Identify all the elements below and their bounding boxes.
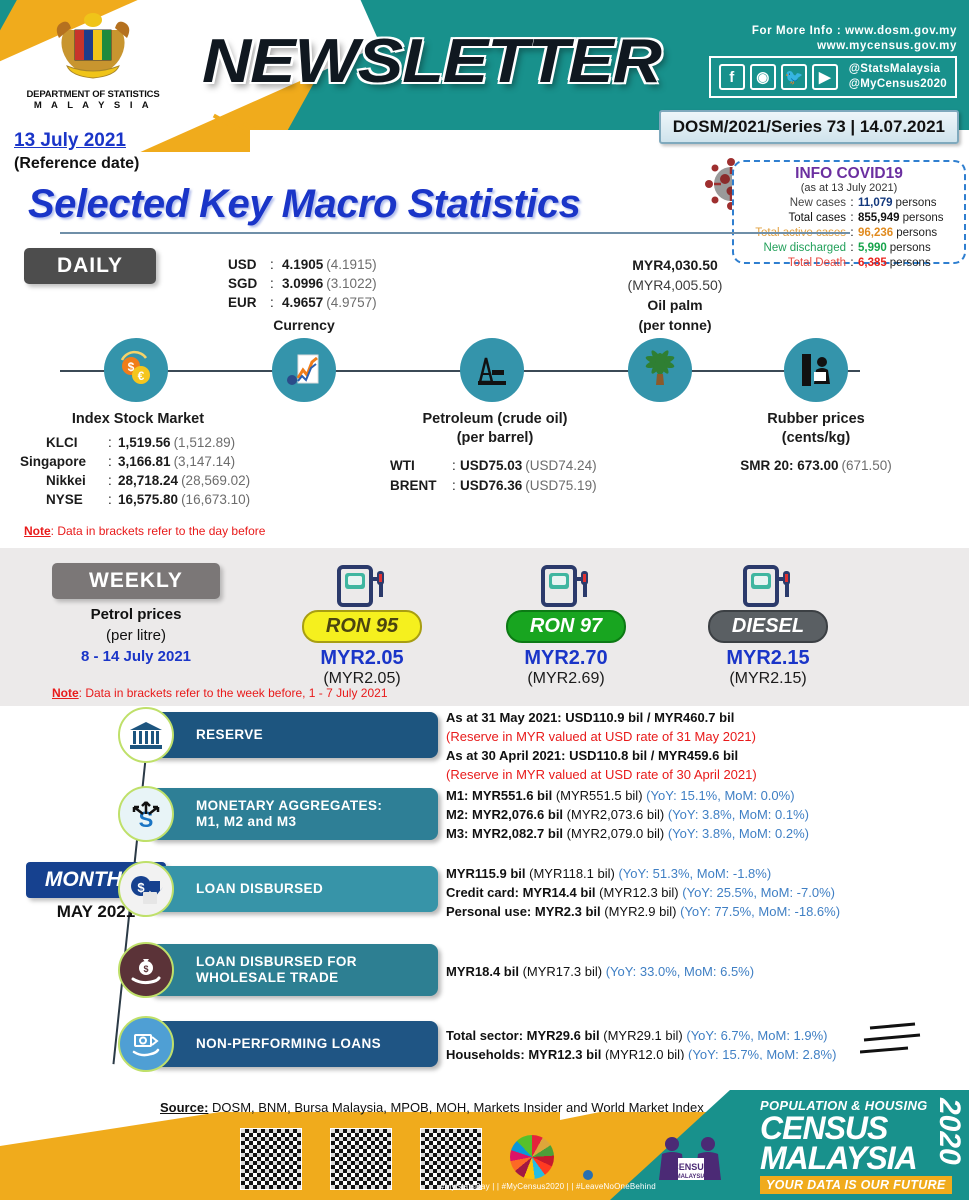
- monetary-prev: (MYR551.5 bil): [556, 788, 643, 803]
- index-prev: (1,512.89): [174, 433, 236, 452]
- currency-code: EUR: [228, 293, 270, 312]
- emblem-line-1: DEPARTMENT OF STATISTICS: [18, 89, 168, 100]
- monthly-caption-monetary: MONETARY AGGREGATES: M1, M2 and M3: [148, 788, 438, 840]
- petroleum-row: BRENT : USD76.36 (USD75.19): [390, 476, 600, 495]
- covid-value: 6,385: [858, 256, 887, 271]
- index-prev: (3,147.14): [174, 452, 236, 471]
- monetary-row: M2: MYR2,076.6 bil (MYR2,073.6 bil) (YoY…: [446, 805, 809, 824]
- fuel-pill-label: DIESEL: [708, 610, 828, 643]
- more-info-block: For More Info : www.dosm.gov.my www.myce…: [752, 24, 957, 54]
- daily-note-prefix: Note: [24, 524, 51, 538]
- monthly-caption-line-2: WHOLESALE TRADE: [196, 970, 339, 986]
- petroleum-rows: WTI : USD75.03 (USD74.24) BRENT : USD76.…: [390, 456, 600, 495]
- more-info-line-1: For More Info : www.dosm.gov.my: [752, 24, 957, 39]
- fuel-price: MYR2.70: [476, 647, 656, 670]
- reference-date: 13 July 2021: [14, 130, 126, 152]
- footer-hashtags: #MyStatsDay | | #MyCensus2020 | | #Leave…: [440, 1182, 656, 1191]
- monthly-caption-line-1: RESERVE: [196, 727, 263, 743]
- npl-change: (YoY: 15.7%, MoM: 2.8%): [688, 1047, 836, 1062]
- malaysia-coat-of-arms-icon: [45, 8, 141, 82]
- covid-unit: persons: [896, 226, 937, 241]
- handle-statsmalaysia: @StatsMalaysia: [849, 62, 947, 77]
- youtube-icon[interactable]: ▶: [812, 64, 838, 90]
- census-year: 2020: [935, 1098, 963, 1165]
- monetary-prev: (MYR2,079.0 bil): [567, 826, 665, 841]
- loan-row: Personal use: MYR2.3 bil (MYR2.9 bil) (Y…: [446, 902, 840, 921]
- currency-colon: :: [270, 274, 282, 293]
- currency-value: 3.0996: [282, 274, 323, 293]
- npl-prev: (MYR29.1 bil): [603, 1028, 682, 1043]
- svg-text:MALAYSIA: MALAYSIA: [676, 1174, 707, 1180]
- covid-value: 96,236: [858, 226, 893, 241]
- stock-chart-icon: [272, 338, 336, 402]
- index-prev: (28,569.02): [181, 471, 250, 490]
- covid-colon: :: [846, 256, 858, 271]
- wholesale-change: (YoY: 33.0%, MoM: 6.5%): [606, 964, 754, 979]
- petroleum-block: Petroleum (crude oil) (per barrel) WTI :…: [390, 410, 600, 495]
- monthly-text-monetary: M1: MYR551.6 bil (MYR551.5 bil) (YoY: 15…: [446, 786, 809, 843]
- oil-palm-label-2: (per tonne): [590, 315, 760, 335]
- currency-exchange-icon: $ €: [104, 338, 168, 402]
- rubber-tapping-icon: [784, 338, 848, 402]
- monthly-caption-line-1: LOAN DISBURSED FOR: [196, 954, 357, 970]
- npl-row: Total sector: MYR29.6 bil (MYR29.1 bil) …: [446, 1026, 836, 1045]
- index-value: 28,718.24: [118, 471, 178, 490]
- currency-colon: :: [270, 293, 282, 312]
- loan-prev: (MYR12.3 bil): [599, 885, 678, 900]
- currency-block: USD : 4.1905 (4.1915) SGD : 3.0996 (3.10…: [228, 255, 380, 335]
- social-media-box: f ◉ 🐦 ▶ @StatsMalaysia @MyCensus2020: [709, 56, 957, 98]
- index-row: KLCI : 1,519.56 (1,512.89): [20, 433, 256, 452]
- loan-change: (YoY: 77.5%, MoM: -18.6%): [680, 904, 840, 919]
- rubber-title-2: (cents/kg): [716, 429, 916, 448]
- monthly-text-wholesale: MYR18.4 bil (MYR17.3 bil) (YoY: 33.0%, M…: [446, 962, 754, 981]
- index-colon: :: [108, 490, 118, 509]
- wholesale-row: MYR18.4 bil (MYR17.3 bil) (YoY: 33.0%, M…: [446, 962, 754, 981]
- rubber-value: SMR 20: 673.00: [740, 458, 838, 473]
- covid-unit: persons: [903, 211, 944, 226]
- weekly-note: Note: Data in brackets refer to the week…: [52, 686, 388, 700]
- oil-palm-prev: (MYR4,005.50): [590, 275, 760, 295]
- fuel-price: MYR2.15: [678, 647, 858, 670]
- petroleum-title-2: (per barrel): [390, 429, 600, 448]
- monthly-caption-npl: NON-PERFORMING LOANS: [148, 1021, 438, 1067]
- weekly-note-prefix: Note: [52, 686, 79, 700]
- monthly-caption-loan: LOAN DISBURSED: [148, 866, 438, 912]
- fuel-card-ron95: RON 95 MYR2.05 (MYR2.05): [272, 563, 452, 688]
- index-name: KLCI: [20, 433, 108, 452]
- index-colon: :: [108, 433, 118, 452]
- twitter-icon[interactable]: 🐦: [781, 64, 807, 90]
- npl-value: Households: MYR12.3 bil: [446, 1047, 601, 1062]
- loan-prev: (MYR2.9 bil): [604, 904, 676, 919]
- oil-palm-label-1: Oil palm: [590, 295, 760, 315]
- monthly-text-loan: MYR115.9 bil (MYR118.1 bil) (YoY: 51.3%,…: [446, 864, 840, 921]
- covid-value: 5,990: [858, 241, 887, 256]
- currency-prev: (4.9757): [326, 293, 376, 312]
- daily-note: Note: Data in brackets refer to the day …: [24, 524, 265, 538]
- loan-money-icon: $: [118, 861, 174, 917]
- reserve-note-2: (Reserve in MYR valued at USD rate of 30…: [446, 765, 757, 784]
- index-prev: (16,673.10): [181, 490, 250, 509]
- fuel-pill-label: RON 95: [302, 610, 422, 643]
- currency-prev: (4.1915): [326, 255, 376, 274]
- monetary-row: M3: MYR2,082.7 bil (MYR2,079.0 bil) (YoY…: [446, 824, 809, 843]
- covid-unit: persons: [890, 256, 931, 271]
- petroleum-row: WTI : USD75.03 (USD74.24): [390, 456, 600, 475]
- broken-money-icon: [118, 1016, 174, 1072]
- svg-text:€: €: [138, 369, 145, 383]
- weekly-caption-date: 8 - 14 July 2021: [52, 646, 220, 667]
- petroleum-prev: (USD75.19): [525, 476, 596, 495]
- emblem-line-2: M A L A Y S I A: [18, 100, 168, 111]
- index-name: NYSE: [20, 490, 108, 509]
- series-badge: DOSM/2021/Series 73 | 14.07.2021: [659, 110, 959, 144]
- covid-colon: :: [846, 196, 858, 211]
- petroleum-colon: :: [452, 476, 460, 495]
- monetary-value: M1: MYR551.6 bil: [446, 788, 552, 803]
- social-handles: @StatsMalaysia @MyCensus2020: [849, 62, 947, 92]
- monthly-caption-line-1: LOAN DISBURSED: [196, 881, 323, 897]
- monetary-change: (YoY: 15.1%, MoM: 0.0%): [646, 788, 794, 803]
- weekly-badge: WEEKLY: [52, 563, 220, 599]
- currency-code: USD: [228, 255, 270, 274]
- loan-change: (YoY: 51.3%, MoM: -1.8%): [618, 866, 771, 881]
- palm-tree-icon: [628, 338, 692, 402]
- fuel-prev-price: (MYR2.15): [678, 670, 858, 688]
- fuel-card-diesel: DIESEL MYR2.15 (MYR2.15): [678, 563, 858, 688]
- monthly-caption-line-1: NON-PERFORMING LOANS: [196, 1036, 381, 1052]
- index-row: Nikkei : 28,718.24 (28,569.02): [20, 471, 256, 490]
- newsletter-page: DEPARTMENT OF STATISTICS M A L A Y S I A…: [0, 0, 969, 1200]
- index-value: 1,519.56: [118, 433, 171, 452]
- newsletter-title: NEWSLETTER: [202, 26, 661, 97]
- reserve-line-2: As at 30 April 2021: USD110.8 bil / MYR4…: [446, 746, 757, 765]
- index-stock-rows: KLCI : 1,519.56 (1,512.89) Singapore : 3…: [20, 433, 256, 509]
- wholesale-prev: (MYR17.3 bil): [523, 964, 602, 979]
- oil-rig-icon: [460, 338, 524, 402]
- weekly-caption-1: Petrol prices: [52, 604, 220, 625]
- index-colon: :: [108, 471, 118, 490]
- currency-value: 4.9657: [282, 293, 323, 312]
- index-colon: :: [108, 452, 118, 471]
- fuel-prev-price: (MYR2.69): [476, 670, 656, 688]
- npl-prev: (MYR12.0 bil): [605, 1047, 684, 1062]
- source-prefix: Source:: [160, 1100, 208, 1115]
- currency-row: EUR : 4.9657 (4.9757): [228, 293, 380, 312]
- monetary-change: (YoY: 3.8%, MoM: 0.2%): [668, 826, 809, 841]
- fuel-card-ron97: RON 97 MYR2.70 (MYR2.69): [476, 563, 656, 688]
- oil-palm-value: MYR4,030.50: [590, 255, 760, 275]
- loan-row: MYR115.9 bil (MYR118.1 bil) (YoY: 51.3%,…: [446, 864, 840, 883]
- index-stock-block: Index Stock Market KLCI : 1,519.56 (1,51…: [20, 410, 256, 509]
- mystatsday-icon: [566, 1133, 612, 1181]
- petroleum-name: WTI: [390, 456, 452, 475]
- covid-subtitle: (as at 13 July 2021): [734, 182, 964, 194]
- monthly-caption-wholesale: LOAN DISBURSED FOR WHOLESALE TRADE: [148, 944, 438, 996]
- currency-label: Currency: [228, 316, 380, 335]
- npl-change: (YoY: 6.7%, MoM: 1.9%): [686, 1028, 827, 1043]
- index-row: Singapore : 3,166.81 (3,147.14): [20, 452, 256, 471]
- monetary-row: M1: MYR551.6 bil (MYR551.5 bil) (YoY: 15…: [446, 786, 809, 805]
- loan-value: MYR115.9 bil: [446, 866, 525, 881]
- covid-colon: :: [846, 241, 858, 256]
- currency-row: SGD : 3.0996 (3.1022): [228, 274, 380, 293]
- currency-code: SGD: [228, 274, 270, 293]
- petroleum-value: USD75.03: [460, 456, 522, 475]
- page-title: Selected Key Macro Statistics: [28, 182, 580, 227]
- rubber-title-1: Rubber prices: [716, 410, 916, 429]
- petroleum-name: BRENT: [390, 476, 452, 495]
- loan-value: Personal use: MYR2.3 bil: [446, 904, 601, 919]
- reserve-line-1: As at 31 May 2021: USD110.9 bil / MYR460…: [446, 708, 757, 727]
- covid-label: Total cases: [734, 211, 846, 226]
- decorative-dashes: [860, 1018, 960, 1078]
- rubber-prev: (671.50): [842, 458, 892, 473]
- svg-text:$: $: [143, 964, 148, 974]
- money-bag-hand-icon: $: [118, 942, 174, 998]
- source-text: DOSM, BNM, Bursa Malaysia, MPOB, MOH, Ma…: [208, 1100, 703, 1115]
- monetary-value: M3: MYR2,082.7 bil: [446, 826, 563, 841]
- weekly-caption-2: (per litre): [52, 625, 220, 646]
- covid-row: New cases : 11,079 persons: [734, 196, 964, 211]
- covid-value: 11,079: [858, 196, 893, 211]
- loan-change: (YoY: 25.5%, MoM: -7.0%): [682, 885, 835, 900]
- petroleum-value: USD76.36: [460, 476, 522, 495]
- oil-palm-block: MYR4,030.50 (MYR4,005.50) Oil palm (per …: [590, 255, 760, 335]
- wholesale-value: MYR18.4 bil: [446, 964, 519, 979]
- handle-mycensus: @MyCensus2020: [849, 77, 947, 92]
- bank-building-icon: [118, 707, 174, 763]
- source-line: Source: DOSM, BNM, Bursa Malaysia, MPOB,…: [160, 1100, 704, 1115]
- covid-unit: persons: [896, 196, 937, 211]
- daily-badge: DAILY: [24, 248, 156, 284]
- covid-info-panel: INFO COVID19 (as at 13 July 2021) New ca…: [700, 152, 968, 264]
- covid-label: New discharged: [734, 241, 846, 256]
- sdg-wheel-icon: [510, 1135, 554, 1179]
- qr-facebook-icon[interactable]: [330, 1128, 392, 1190]
- covid-label: New cases: [734, 196, 846, 211]
- covid-row: Total cases : 855,949 persons: [734, 211, 964, 226]
- census-tagline: YOUR DATA IS OUR FUTURE: [760, 1176, 952, 1194]
- index-stock-title: Index Stock Market: [20, 410, 256, 429]
- instagram-icon[interactable]: ◉: [750, 64, 776, 90]
- covid-box: INFO COVID19 (as at 13 July 2021) New ca…: [732, 160, 966, 264]
- loan-value: Credit card: MYR14.4 bil: [446, 885, 596, 900]
- title-divider: [60, 232, 850, 234]
- currency-row: USD : 4.1905 (4.1915): [228, 255, 380, 274]
- covid-row: New discharged : 5,990 persons: [734, 241, 964, 256]
- monetary-change: (YoY: 3.8%, MoM: 0.1%): [668, 807, 809, 822]
- fuel-pill-label: RON 97: [506, 610, 626, 643]
- index-name: Nikkei: [20, 471, 108, 490]
- svg-text:CENSUS: CENSUS: [672, 1162, 710, 1172]
- petroleum-prev: (USD74.24): [525, 456, 596, 475]
- fuel-prev-price: (MYR2.05): [272, 670, 452, 688]
- loan-row: Credit card: MYR14.4 bil (MYR12.3 bil) (…: [446, 883, 840, 902]
- monthly-text-reserve: As at 31 May 2021: USD110.9 bil / MYR460…: [446, 708, 757, 784]
- index-value: 3,166.81: [118, 452, 171, 471]
- covid-title: INFO COVID19: [734, 165, 964, 183]
- reserve-note-1: (Reserve in MYR valued at USD rate of 31…: [446, 727, 757, 746]
- weekly-caption: Petrol prices (per litre) 8 - 14 July 20…: [52, 604, 220, 667]
- covid-row: Total Death : 6,385 persons: [734, 256, 964, 271]
- petroleum-title-1: Petroleum (crude oil): [390, 410, 600, 429]
- currency-colon: :: [270, 255, 282, 274]
- monthly-caption-reserve: RESERVE: [148, 712, 438, 758]
- more-info-line-2: www.mycensus.gov.my: [752, 39, 957, 54]
- monthly-text-npl: Total sector: MYR29.6 bil (MYR29.1 bil) …: [446, 1026, 836, 1064]
- loan-prev: (MYR118.1 bil): [529, 866, 615, 881]
- index-row: NYSE : 16,575.80 (16,673.10): [20, 490, 256, 509]
- petroleum-colon: :: [452, 456, 460, 475]
- currency-value: 4.1905: [282, 255, 323, 274]
- covid-value: 855,949: [858, 211, 900, 226]
- npl-value: Total sector: MYR29.6 bil: [446, 1028, 600, 1043]
- monthly-caption-line-1: MONETARY AGGREGATES:: [196, 798, 382, 814]
- currency-prev: (3.1022): [326, 274, 376, 293]
- census-malaysia-logo: CENSUS MALAYSIA: [648, 1130, 734, 1192]
- reference-date-label: (Reference date): [14, 155, 139, 173]
- index-name: Singapore: [20, 452, 108, 471]
- daily-note-text: : Data in brackets refer to the day befo…: [51, 524, 266, 538]
- qr-mycensus-icon[interactable]: [420, 1128, 482, 1190]
- covid-unit: persons: [890, 241, 931, 256]
- monetary-value: M2: MYR2,076.6 bil: [446, 807, 563, 822]
- dosm-emblem: DEPARTMENT OF STATISTICS M A L A Y S I A: [18, 8, 168, 118]
- index-value: 16,575.80: [118, 490, 178, 509]
- covid-colon: :: [846, 211, 858, 226]
- weekly-note-text: : Data in brackets refer to the week bef…: [79, 686, 388, 700]
- monetary-prev: (MYR2,073.6 bil): [567, 807, 665, 822]
- monthly-caption-line-2: M1, M2 and M3: [196, 814, 296, 830]
- rubber-block: Rubber prices (cents/kg) SMR 20: 673.00(…: [716, 410, 916, 475]
- facebook-icon[interactable]: f: [719, 64, 745, 90]
- money-supply-icon: S: [118, 786, 174, 842]
- fuel-price: MYR2.05: [272, 647, 452, 670]
- qr-dosm-icon[interactable]: [240, 1128, 302, 1190]
- rubber-rows: SMR 20: 673.00(671.50): [716, 456, 916, 475]
